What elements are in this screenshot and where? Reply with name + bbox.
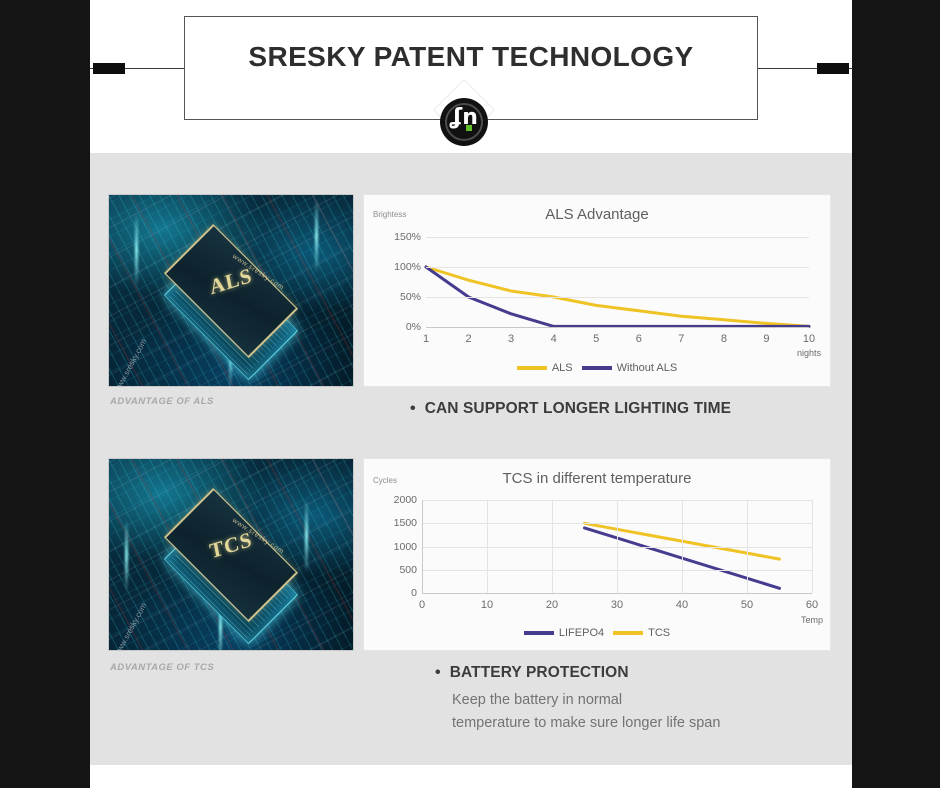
logo-mark: ʆn <box>440 107 488 129</box>
legend-label: Without ALS <box>617 362 678 374</box>
y-axis-label: Cycles <box>373 476 397 485</box>
chip-3d: TCS www.sresky.com <box>156 477 306 627</box>
x-axis-line <box>426 327 809 328</box>
chart-title: TCS in different temperature <box>364 470 830 487</box>
x-tick-label: 3 <box>508 333 514 345</box>
legend-item[interactable]: ALS <box>517 362 573 374</box>
legend-swatch-lifepo4 <box>524 631 554 635</box>
x-axis-line <box>422 593 812 594</box>
y-axis-label: Brightess <box>373 210 406 219</box>
chart-title: ALS Advantage <box>364 206 830 223</box>
x-tick-label: 30 <box>611 599 623 611</box>
vertical-gridline <box>487 500 488 593</box>
vertical-gridline <box>617 500 618 593</box>
slide-body: ALS www.sresky.com www.sresky.com ADVANT… <box>90 153 852 765</box>
header-tab-right <box>817 63 849 74</box>
legend-label: ALS <box>552 362 573 374</box>
legend-item[interactable]: TCS <box>613 627 670 639</box>
gridline <box>426 237 809 238</box>
plot-area: 0%50%100%150%12345678910 <box>426 237 809 327</box>
x-tick-label: 50 <box>741 599 753 611</box>
als-advantage-chart: ALS Advantage Brightess 0%50%100%150%123… <box>363 194 831 387</box>
x-tick-label: 10 <box>803 333 815 345</box>
x-tick-label: 0 <box>419 599 425 611</box>
chip-3d: ALS www.sresky.com <box>156 213 306 363</box>
x-tick-label: 5 <box>593 333 599 345</box>
page-title: SRESKY PATENT TECHNOLOGY <box>185 41 757 73</box>
header-tab-left <box>93 63 125 74</box>
x-tick-label: 2 <box>465 333 471 345</box>
sresky-logo-icon: ʆn <box>440 98 488 146</box>
vertical-gridline <box>747 500 748 593</box>
legend-swatch-als <box>517 366 547 370</box>
x-axis-unit-label: nights <box>797 348 821 358</box>
slide: SRESKY PATENT TECHNOLOGY ʆn ALS www.sres… <box>90 0 852 788</box>
vertical-gridline <box>552 500 553 593</box>
bullet-battery-protection: • BATTERY PROTECTION Keep the battery in… <box>435 664 720 736</box>
x-tick-label: 10 <box>481 599 493 611</box>
bullet-headline: CAN SUPPORT LONGER LIGHTING TIME <box>425 400 731 418</box>
x-tick-label: 1 <box>423 333 429 345</box>
y-tick-label: 150% <box>394 231 421 243</box>
x-tick-label: 20 <box>546 599 558 611</box>
vertical-gridline <box>812 500 813 593</box>
chart-legend: ALS Without ALS <box>364 362 830 374</box>
bullet-headline: BATTERY PROTECTION <box>450 664 629 682</box>
y-tick-label: 0 <box>411 587 417 599</box>
x-tick-label: 60 <box>806 599 818 611</box>
x-tick-label: 6 <box>636 333 642 345</box>
slide-header: SRESKY PATENT TECHNOLOGY ʆn <box>90 0 852 153</box>
legend-label: LIFEPO4 <box>559 627 604 639</box>
bullet-subtext: Keep the battery in normaltemperature to… <box>452 689 720 736</box>
y-tick-label: 1500 <box>394 517 417 529</box>
x-tick-label: 9 <box>763 333 769 345</box>
glow-bar <box>315 199 318 273</box>
y-tick-label: 2000 <box>394 494 417 506</box>
y-axis-line <box>422 500 423 593</box>
y-tick-label: 1000 <box>394 541 417 553</box>
bullet-dot-icon: • <box>410 401 416 417</box>
bullet-lighting-time: • CAN SUPPORT LONGER LIGHTING TIME <box>410 400 731 418</box>
glow-bar <box>125 519 128 593</box>
bullet-dot-icon: • <box>435 665 441 681</box>
series-lines <box>426 237 809 327</box>
vertical-gridline <box>682 500 683 593</box>
gridline <box>426 297 809 298</box>
legend-swatch-without-als <box>582 366 612 370</box>
legend-label: TCS <box>648 627 670 639</box>
chart-legend: LIFEPO4 TCS <box>364 627 830 639</box>
x-tick-label: 4 <box>551 333 557 345</box>
bullet-headline-row: • CAN SUPPORT LONGER LIGHTING TIME <box>410 400 731 418</box>
bullet-headline-row: • BATTERY PROTECTION <box>435 664 720 682</box>
x-tick-label: 7 <box>678 333 684 345</box>
tcs-temperature-chart: TCS in different temperature Cycles 0500… <box>363 458 831 651</box>
y-tick-label: 0% <box>406 321 421 333</box>
legend-swatch-tcs <box>613 631 643 635</box>
glow-bar <box>135 213 138 287</box>
plot-area: 05001000150020000102030405060 <box>422 500 812 593</box>
y-tick-label: 50% <box>400 291 421 303</box>
x-tick-label: 8 <box>721 333 727 345</box>
y-tick-label: 100% <box>394 261 421 273</box>
caption-advantage-of-tcs: ADVANTAGE OF TCS <box>110 662 214 673</box>
legend-item[interactable]: Without ALS <box>582 362 678 374</box>
logo-accent-dot <box>466 125 472 131</box>
x-tick-label: 40 <box>676 599 688 611</box>
y-tick-label: 500 <box>399 564 417 576</box>
als-chip-photo: ALS www.sresky.com www.sresky.com <box>108 194 354 387</box>
gridline <box>426 267 809 268</box>
legend-item[interactable]: LIFEPO4 <box>524 627 604 639</box>
caption-advantage-of-als: ADVANTAGE OF ALS <box>110 396 214 407</box>
tcs-chip-photo: TCS www.sresky.com www.sresky.com <box>108 458 354 651</box>
x-axis-unit-label: Temp <box>801 615 823 625</box>
